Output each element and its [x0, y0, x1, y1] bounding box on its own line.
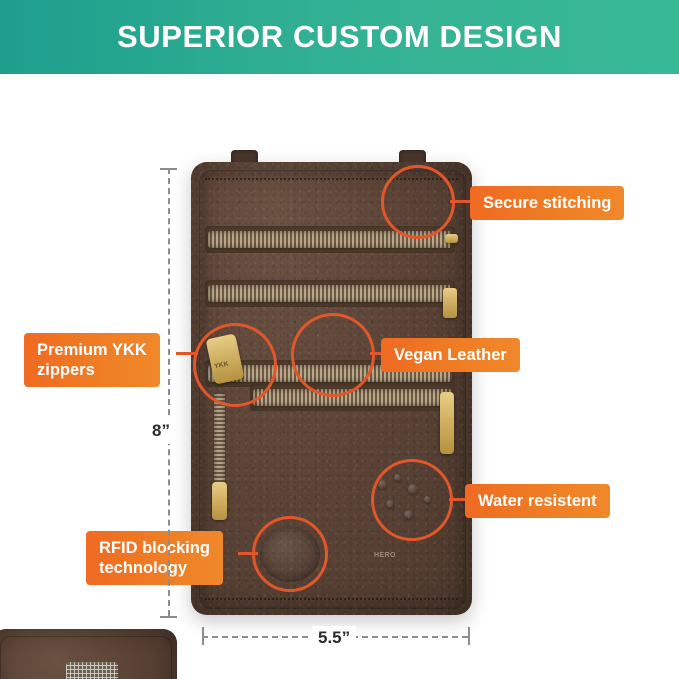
callout-ring-secure-stitching	[381, 165, 455, 239]
hero-wings-logo	[588, 674, 666, 679]
callout-ring-rfid	[252, 516, 328, 592]
dimension-cap-height-bottom	[160, 616, 177, 618]
dimension-width-label: 5.5”	[312, 626, 356, 650]
zipper-pull-1	[445, 234, 458, 243]
dimension-cap-height-top	[160, 168, 177, 170]
page-title: SUPERIOR CUSTOM DESIGN	[117, 19, 562, 55]
callout-label-water-resistant: Water resistent	[465, 484, 610, 518]
dimension-cap-width-left	[202, 627, 204, 645]
zipper-pull-4	[440, 392, 454, 454]
zipper-teeth-vertical	[214, 392, 225, 488]
dimension-line-height	[168, 168, 170, 616]
callout-label-ykk-zippers: Premium YKK zippers	[24, 333, 160, 387]
connector-rfid	[238, 552, 258, 555]
brand-emboss: HERO	[374, 552, 422, 574]
stitch-line-bottom	[205, 598, 458, 600]
callout-ring-water-resistant	[371, 459, 453, 541]
header-banner: SUPERIOR CUSTOM DESIGN	[0, 0, 679, 74]
zipper-pull-2	[443, 288, 457, 318]
callout-ring-vegan-leather	[291, 313, 375, 397]
connector-ykk-zippers	[176, 352, 198, 355]
mesh-panel	[66, 662, 118, 679]
callout-label-rfid: RFID blocking technology	[86, 531, 223, 585]
brand-emboss-text: HERO	[374, 552, 422, 559]
zipper-teeth-2	[208, 285, 452, 302]
callout-label-vegan-leather: Vegan Leather	[381, 338, 520, 372]
zipper-pull-vertical	[212, 482, 227, 520]
product-photo-area: YKK HERO	[0, 74, 679, 679]
callout-label-secure-stitching: Secure stitching	[470, 186, 624, 220]
infographic-canvas: SUPERIOR CUSTOM DESIGN YKK	[0, 0, 679, 679]
callout-ring-ykk-zippers	[193, 323, 277, 407]
dimension-height-label: 8”	[148, 418, 174, 444]
dimension-cap-width-right	[468, 627, 470, 645]
